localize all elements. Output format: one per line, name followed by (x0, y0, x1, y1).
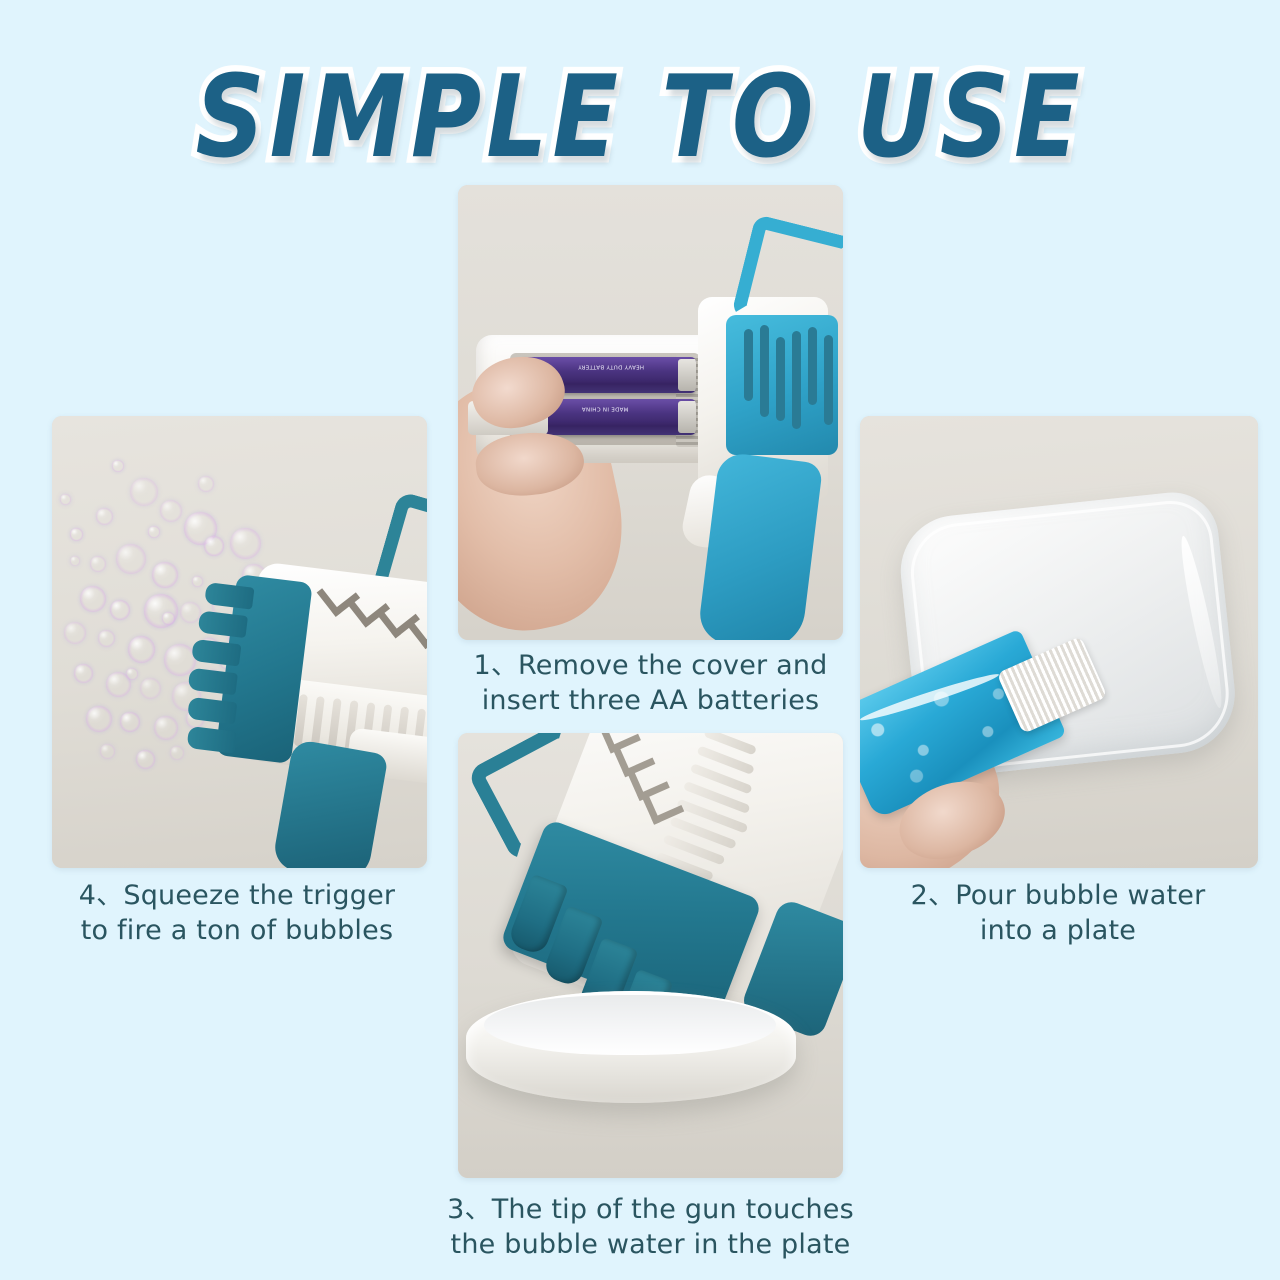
bubble (162, 612, 175, 625)
step-2-photo (860, 416, 1258, 868)
bubble (230, 528, 261, 559)
infographic-page: SIMPLE TO USE HEAVY DUTY BATTERY MADE IN… (0, 0, 1280, 1280)
bubble (70, 556, 80, 566)
bubble (80, 586, 106, 612)
bubble (116, 544, 146, 574)
bubble (198, 476, 214, 492)
step-4-photo (52, 416, 427, 868)
bubble (126, 668, 138, 680)
bubble (60, 494, 71, 505)
battery-install-photo: HEAVY DUTY BATTERY MADE IN CHINA (458, 185, 843, 640)
bubble (120, 712, 140, 732)
step-4-caption: 4、Squeeze the trigger to fire a ton of b… (22, 878, 452, 948)
bubble (160, 500, 182, 522)
bubble (70, 528, 83, 541)
step-3-caption: 3、The tip of the gun touches the bubble … (378, 1192, 923, 1262)
dish-interior (484, 995, 776, 1055)
bubble (154, 716, 178, 740)
page-title: SIMPLE TO USE (0, 58, 1280, 177)
step-2-caption: 2、Pour bubble water into a plate (848, 878, 1268, 948)
bubble (140, 678, 161, 699)
bubble (96, 508, 113, 525)
bubble (90, 556, 106, 572)
pour-bubble-water-photo (860, 416, 1258, 868)
bubble (110, 600, 130, 620)
step-3-photo (458, 733, 843, 1178)
step-1-caption: 1、Remove the cover and insert three AA b… (418, 648, 883, 718)
dip-muzzle-photo (458, 733, 843, 1178)
gun-grip (697, 451, 823, 640)
bubble (204, 536, 224, 556)
bubble (112, 460, 124, 472)
bubble (152, 562, 178, 588)
battery-label-text: HEAVY DUTY BATTERY (536, 362, 686, 371)
bubble (128, 636, 155, 663)
bubble (100, 744, 115, 759)
bubble (64, 622, 86, 644)
bubble (98, 630, 115, 647)
bubble (130, 478, 158, 506)
bubble (74, 664, 93, 683)
firing-bubbles-photo (52, 416, 427, 868)
step-1-photo: HEAVY DUTY BATTERY MADE IN CHINA (458, 185, 843, 640)
bubble (86, 706, 112, 732)
bubble (136, 750, 155, 769)
bubble (148, 526, 160, 538)
